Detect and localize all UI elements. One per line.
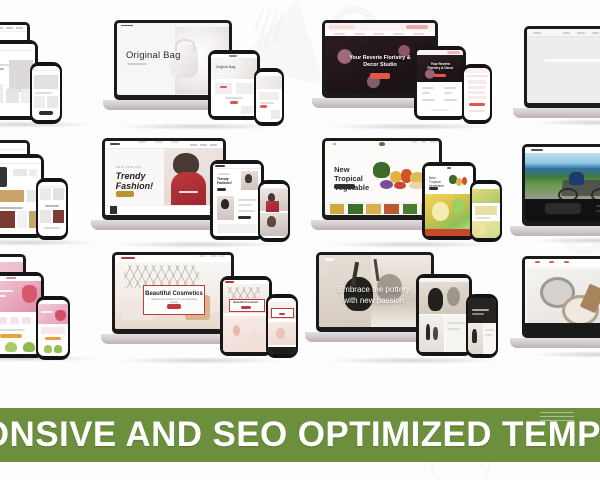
promo-banner-text: RESPONSIVE AND SEO OPTIMIZED TEMPLATES — [0, 415, 600, 455]
phone-device — [30, 62, 62, 124]
hero-headline: Embrace the pottery with new passion — [332, 285, 415, 307]
banner-stripes-icon — [540, 412, 574, 424]
laptop-device — [522, 256, 600, 348]
hero-cta-button[interactable] — [370, 73, 390, 79]
order-button[interactable] — [0, 334, 22, 338]
template-card-luxury-watches[interactable] — [522, 250, 600, 356]
phone-device — [266, 294, 298, 358]
template-card-minimal-studio[interactable] — [0, 18, 110, 126]
hero-headline: Your Reverie Floristry & Decor Studio — [345, 55, 415, 70]
template-card-trendy-fashion[interactable]: NEW ARRIVAL Trendy Fashion! TrendyFashio… — [100, 136, 298, 246]
laptop-device — [522, 144, 600, 236]
tablet-device: Your Reverie Floristry & Decor — [414, 46, 466, 120]
hero-headline-tablet: Original Bag — [216, 65, 236, 69]
phone-device — [254, 68, 284, 126]
phone-device — [466, 294, 498, 358]
template-card-beautiful-cosmetics[interactable]: Beautiful Cosmetics Natural care product… — [102, 248, 298, 362]
hero-card: Beautiful Cosmetics Natural care product… — [143, 285, 205, 315]
tablet-device: Original Bag — [208, 50, 260, 120]
template-card-tropical-vegetable[interactable]: New Tropical Vegetable — [314, 136, 510, 246]
hero-headline: Beautiful Cosmetics — [144, 291, 204, 297]
tablet-device: New Tropical Vegetable — [422, 162, 476, 240]
template-card-pink-dessert[interactable] — [0, 248, 112, 360]
showcase-stage: Original Bag Original Bag — [0, 0, 600, 480]
hero-kicker: NEW ARRIVAL — [116, 165, 143, 169]
template-card-cycling-sport[interactable] — [522, 138, 600, 242]
template-card-pottery-passion[interactable]: Embrace the pottery with new passion — [314, 248, 510, 362]
phone-device — [36, 178, 68, 240]
template-card-original-bag[interactable]: Original Bag Original Bag — [104, 18, 294, 128]
hero-headline: Original Bag — [126, 50, 181, 61]
tablet-device — [416, 274, 472, 356]
template-card-reverie-floristry[interactable]: Your Reverie Floristry & Decor Studio Yo… — [316, 18, 508, 128]
phone-device — [36, 296, 70, 360]
laptop-device — [524, 26, 600, 118]
hero-cta-button[interactable] — [116, 191, 135, 197]
template-card-blank-browser[interactable] — [524, 20, 600, 124]
hero-cta-button[interactable] — [167, 304, 181, 310]
tablet-device: Beautiful Cosmetics — [220, 276, 272, 356]
laptop-device: NEW ARRIVAL Trendy Fashion! — [102, 138, 226, 230]
hero-cta-button[interactable] — [334, 184, 355, 189]
tablet-device: TrendyFashion! — [210, 160, 264, 240]
laptop-device: Beautiful Cosmetics Natural care product… — [112, 252, 234, 344]
phone-device — [462, 64, 492, 124]
template-grid: Original Bag Original Bag — [0, 0, 600, 400]
promo-banner: RESPONSIVE AND SEO OPTIMIZED TEMPLATES — [0, 408, 600, 462]
hero-headline: Trendy Fashion! — [116, 171, 161, 191]
phone-device — [470, 180, 502, 242]
phone-device — [258, 180, 290, 242]
